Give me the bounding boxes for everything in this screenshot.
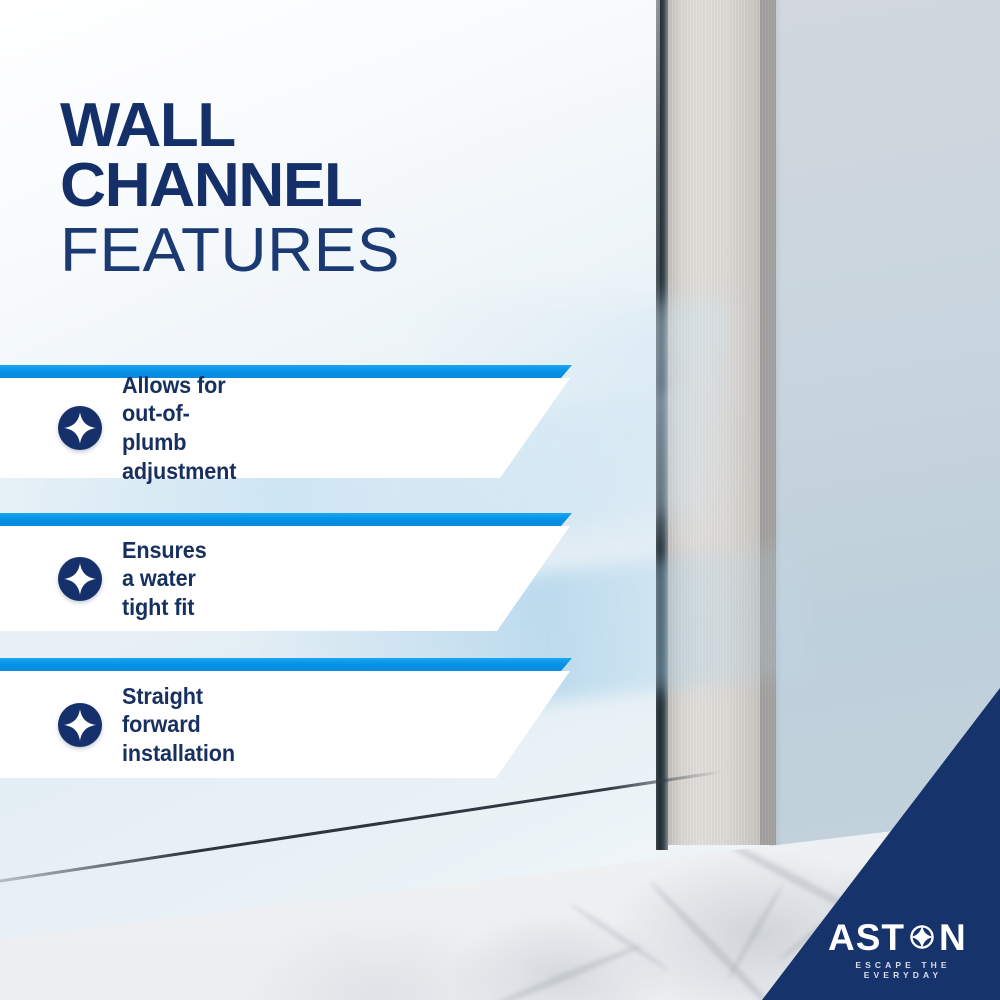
four-point-star-glyph: [62, 707, 98, 743]
feature-card-label: Allows for out-of-plumb adjustment: [122, 371, 236, 485]
marble-vein: [569, 902, 671, 973]
feature-card-label: Straight forward installation: [122, 682, 235, 768]
feature-card-accent-bar: [0, 513, 572, 526]
four-point-star-glyph: [62, 410, 98, 446]
aston-star-logo-icon: [905, 920, 939, 954]
aston-wordmark-part-1: AST: [828, 919, 905, 956]
feature-card-content: Straight forward installation: [58, 671, 242, 778]
marble-vein: [475, 942, 645, 1000]
aston-star-icon: [58, 406, 102, 450]
feature-card-content: Allows for out-of-plumb adjustment: [58, 378, 244, 478]
feature-card-content: Ensures a water tight fit: [58, 526, 212, 631]
aston-wordmark-part-2: N: [939, 919, 967, 956]
marble-vein: [725, 884, 784, 982]
feature-card-accent-bar: [0, 658, 572, 671]
page-title: WALL CHANNEL FEATURES: [60, 96, 620, 282]
aston-tagline: ESCAPE THE EVERYDAY: [828, 960, 978, 980]
aston-logo: AST N ESCAPE THE EVERYDAY: [828, 918, 980, 980]
aston-star-icon: [58, 703, 102, 747]
feature-card-label: Ensures a water tight fit: [122, 536, 207, 622]
title-line-wall: WALL: [60, 96, 637, 156]
poster-canvas: WALL CHANNEL FEATURES Allows for out-of-…: [0, 0, 1000, 1000]
aston-wordmark: AST N: [828, 918, 980, 956]
feature-card-accent-bar: [0, 365, 572, 378]
title-line-features: FEATURES: [60, 219, 637, 282]
title-line-channel: CHANNEL: [60, 156, 637, 216]
four-point-star-glyph: [62, 561, 98, 597]
aston-star-icon: [58, 557, 102, 601]
logo-star-circle-glyph: [905, 920, 939, 954]
wall-channel-shadow: [760, 0, 782, 845]
marble-vein: [648, 879, 793, 1000]
